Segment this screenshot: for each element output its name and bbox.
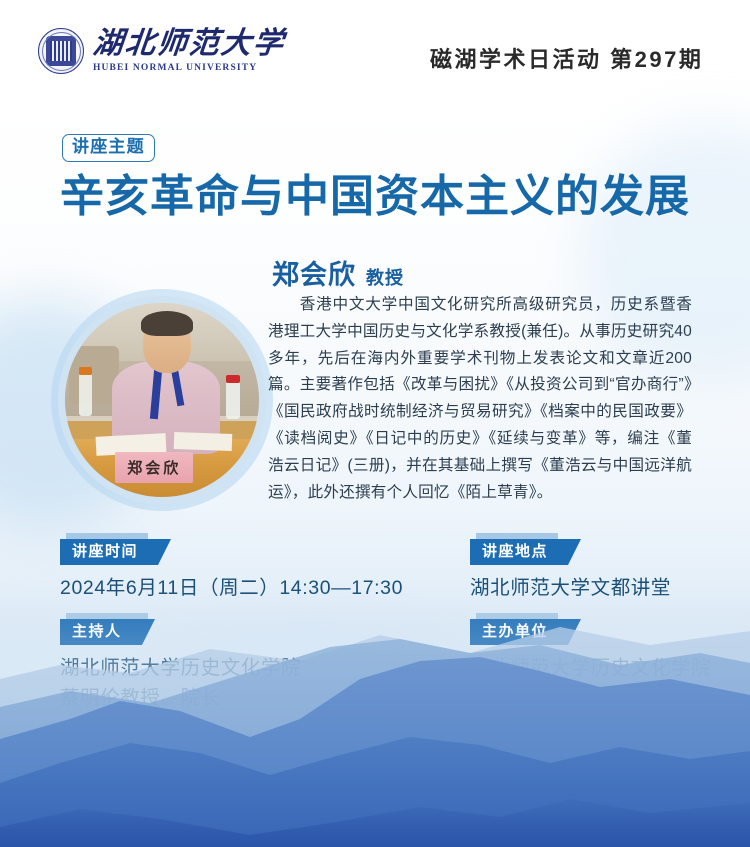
university-name-en: HUBEI NORMAL UNIVERSITY [93,64,285,74]
university-name-cn: 湖北师范大学 [91,29,286,59]
seal-ring [42,32,81,71]
photo-bottle-right [226,381,240,420]
photo-bottle-left [79,373,93,416]
photo-bottle-left-cap [79,367,93,375]
photo-name-placard-text: 郑会欣 [127,457,181,478]
tag-lecture-time-label: 讲座时间 [72,543,138,560]
tag-cap-time [66,533,148,539]
university-logo: 湖北师范大学 HUBEI NORMAL UNIVERSITY [38,28,285,74]
poster-canvas: 湖北师范大学 HUBEI NORMAL UNIVERSITY 磁湖学术日活动 第… [0,0,750,847]
photo-bottle-right-cap [226,375,240,383]
photo-person-hair [141,311,193,336]
issue-label: 磁湖学术日活动 第297期 [430,42,703,74]
poster-header: 湖北师范大学 HUBEI NORMAL UNIVERSITY 磁湖学术日活动 第… [0,0,750,96]
topic-badge: 讲座主题 [62,134,155,162]
speaker-bio: 香港中文大学中国文化研究所高级研究员，历史系暨香港理工大学中国历史与文化学系教授… [268,292,692,507]
tag-lecture-place-label: 讲座地点 [482,543,548,560]
speaker-rank: 教授 [366,264,404,290]
bio-text: 香港中文大学中国文化研究所高级研究员，历史系暨香港理工大学中国历史与文化学系教授… [268,296,692,501]
mountain-illustration [0,587,750,847]
mountain-svg [0,587,750,847]
lecture-title: 辛亥革命与中国资本主义的发展 [60,172,690,223]
speaker-photo-inner: 郑会欣 [65,303,259,497]
logo-text-block: 湖北师范大学 HUBEI NORMAL UNIVERSITY [93,29,285,74]
university-seal-icon [38,28,84,74]
photo-papers-right [173,432,232,451]
speaker-name: 郑会欣 [272,253,356,292]
speaker-photo: 郑会欣 [58,296,266,504]
tag-cap-place [476,533,558,539]
speaker-name-row: 郑会欣 教授 [272,253,404,292]
photo-name-placard: 郑会欣 [115,452,193,483]
tag-lecture-time: 讲座时间 [60,539,158,565]
tag-lecture-place: 讲座地点 [470,539,568,565]
